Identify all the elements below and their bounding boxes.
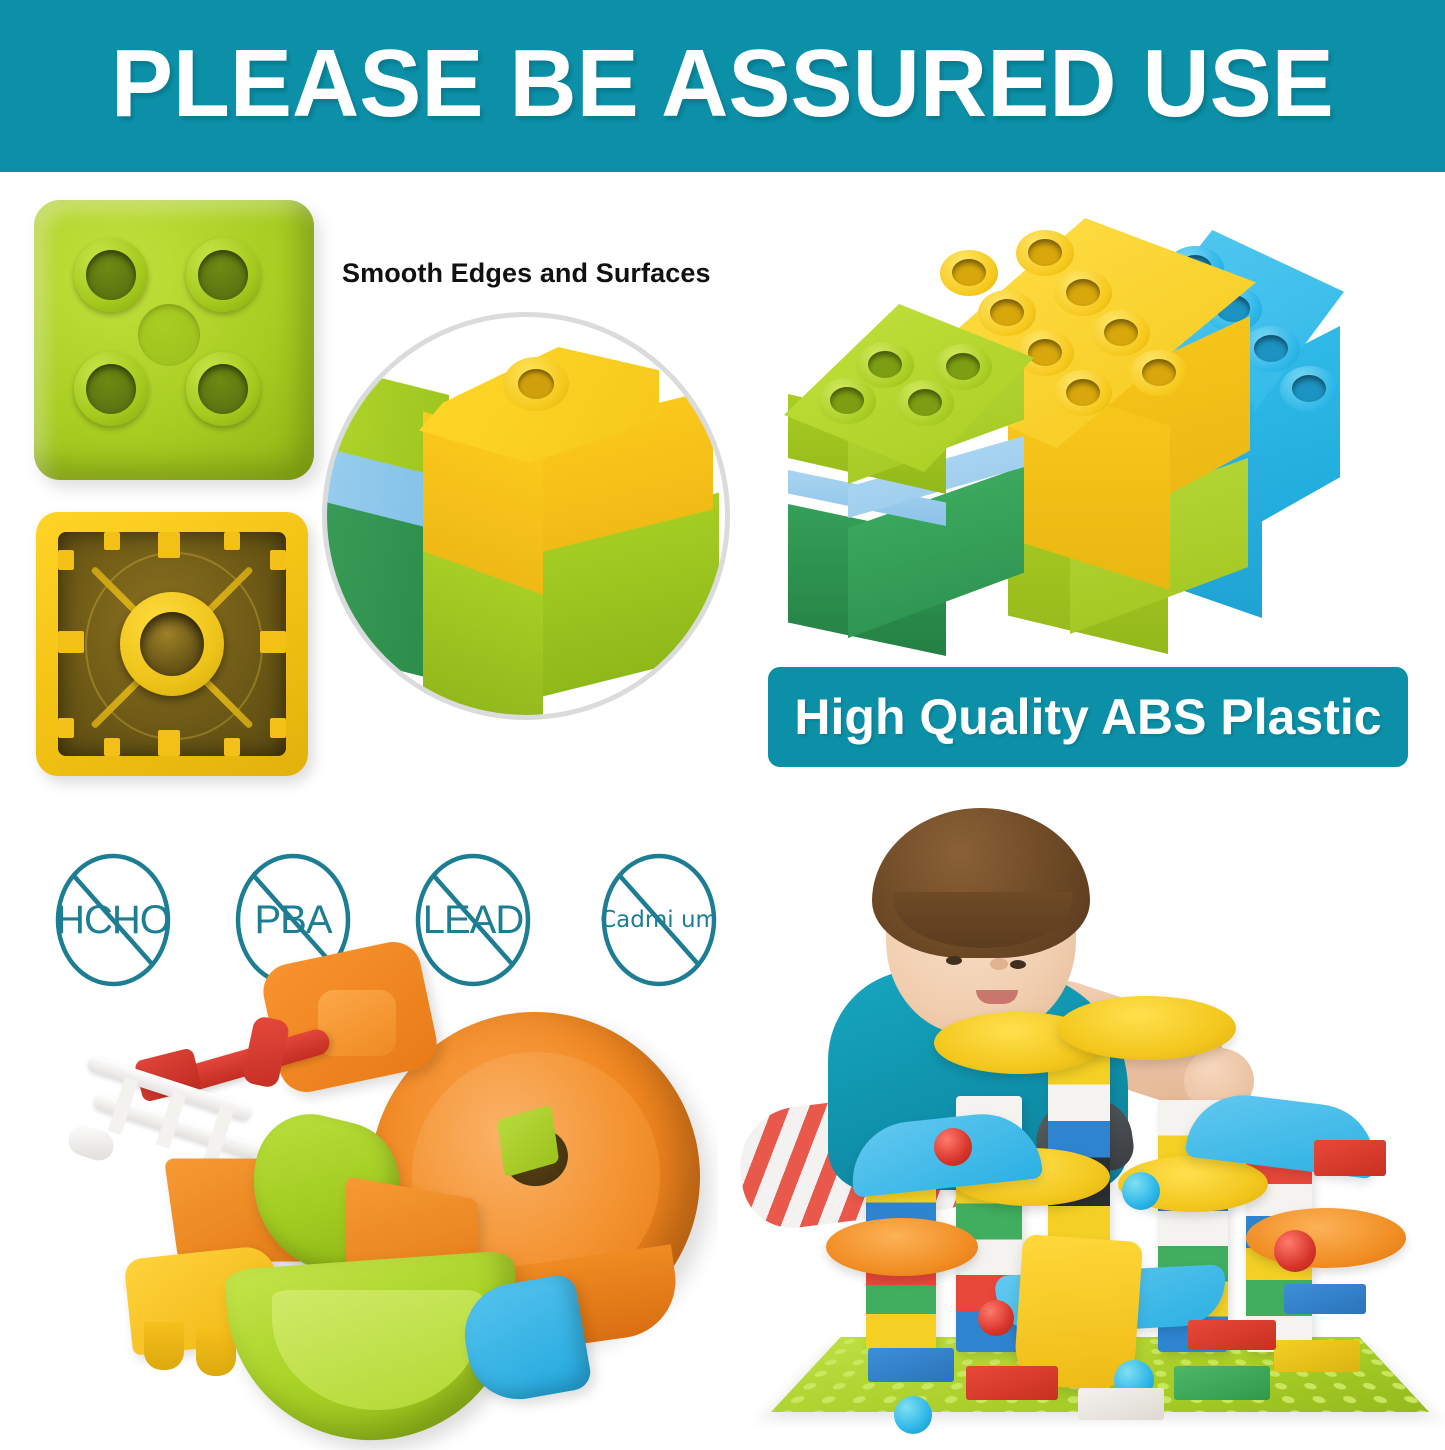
red-marble [1274,1230,1316,1272]
brick-stud [1280,366,1338,412]
baseplate-brick [1078,1388,1164,1420]
yellow-brick-underside [36,512,308,776]
yellow-fork-prong [196,1328,236,1376]
cavity-tab [58,718,74,738]
yellow-fork-prong [144,1322,184,1370]
brick-stud [856,342,914,388]
smooth-edges-label: Smooth Edges and Surfaces [342,258,711,289]
brick-stud [186,238,260,312]
cavity-tab [104,532,120,550]
brick-stud [74,352,148,426]
orange-funnel-lower [826,1218,978,1276]
brick-stud [74,238,148,312]
cavity-tab [104,738,120,756]
blue-marble [894,1396,932,1434]
cavity-tab [270,718,286,738]
cavity-tab [260,631,286,653]
brick-stud [1242,326,1300,372]
brick-stud [503,357,569,411]
brick-cavity [58,532,286,756]
brick-assembly-illustration [770,208,1430,648]
quality-badge-label: High Quality ABS Plastic [794,688,1381,746]
brick-stud [1130,350,1188,396]
baseplate-brick [1174,1366,1270,1400]
cavity-tab [58,550,74,570]
cavity-tab [158,730,180,756]
cavity-tab [158,532,180,558]
brick-stud [978,290,1036,336]
baseplate-brick [1314,1140,1386,1176]
brick-stud [1016,330,1074,376]
center-recess [138,304,200,366]
marble-run-parts-photo [60,960,740,1445]
brick-stud [1016,230,1074,276]
cavity-tab [58,631,84,653]
blue-marble [1122,1172,1160,1210]
child-eye [946,956,962,965]
baseplate-brick [1188,1320,1276,1350]
quality-badge: High Quality ABS Plastic [768,667,1408,767]
cavity-center-tube [120,592,224,696]
magnifier-contents [327,317,725,715]
gear-hub [318,990,396,1056]
brick-stud [1092,310,1150,356]
red-marble [978,1300,1014,1336]
orange-funnel-lower [1246,1208,1406,1268]
cavity-tab [224,738,240,756]
page-title: PLEASE BE ASSURED USE [111,36,1334,132]
brick-stud [940,250,998,296]
brick-stud [1054,270,1112,316]
header-banner: PLEASE BE ASSURED USE [0,0,1445,168]
child-playing-photo [718,800,1445,1445]
child-nose [990,958,1008,970]
brick-stud [934,344,992,390]
brick-stud [818,378,876,424]
red-marble [934,1128,972,1166]
baseplate-brick [1274,1340,1360,1372]
green-brick-top-view [34,200,314,480]
baseplate-brick [966,1366,1058,1400]
header-divider [0,168,1445,172]
baseplate-brick [868,1348,954,1382]
child-eye [1010,960,1026,969]
brick-stud [1054,370,1112,416]
brick-stud [186,352,260,426]
yellow-funnel-top [1058,996,1236,1060]
magnifier-detail-circle [322,312,730,720]
baseplate-brick [1284,1284,1366,1314]
cavity-tab [270,550,286,570]
brick-stud [896,380,954,426]
cavity-tab [224,532,240,550]
